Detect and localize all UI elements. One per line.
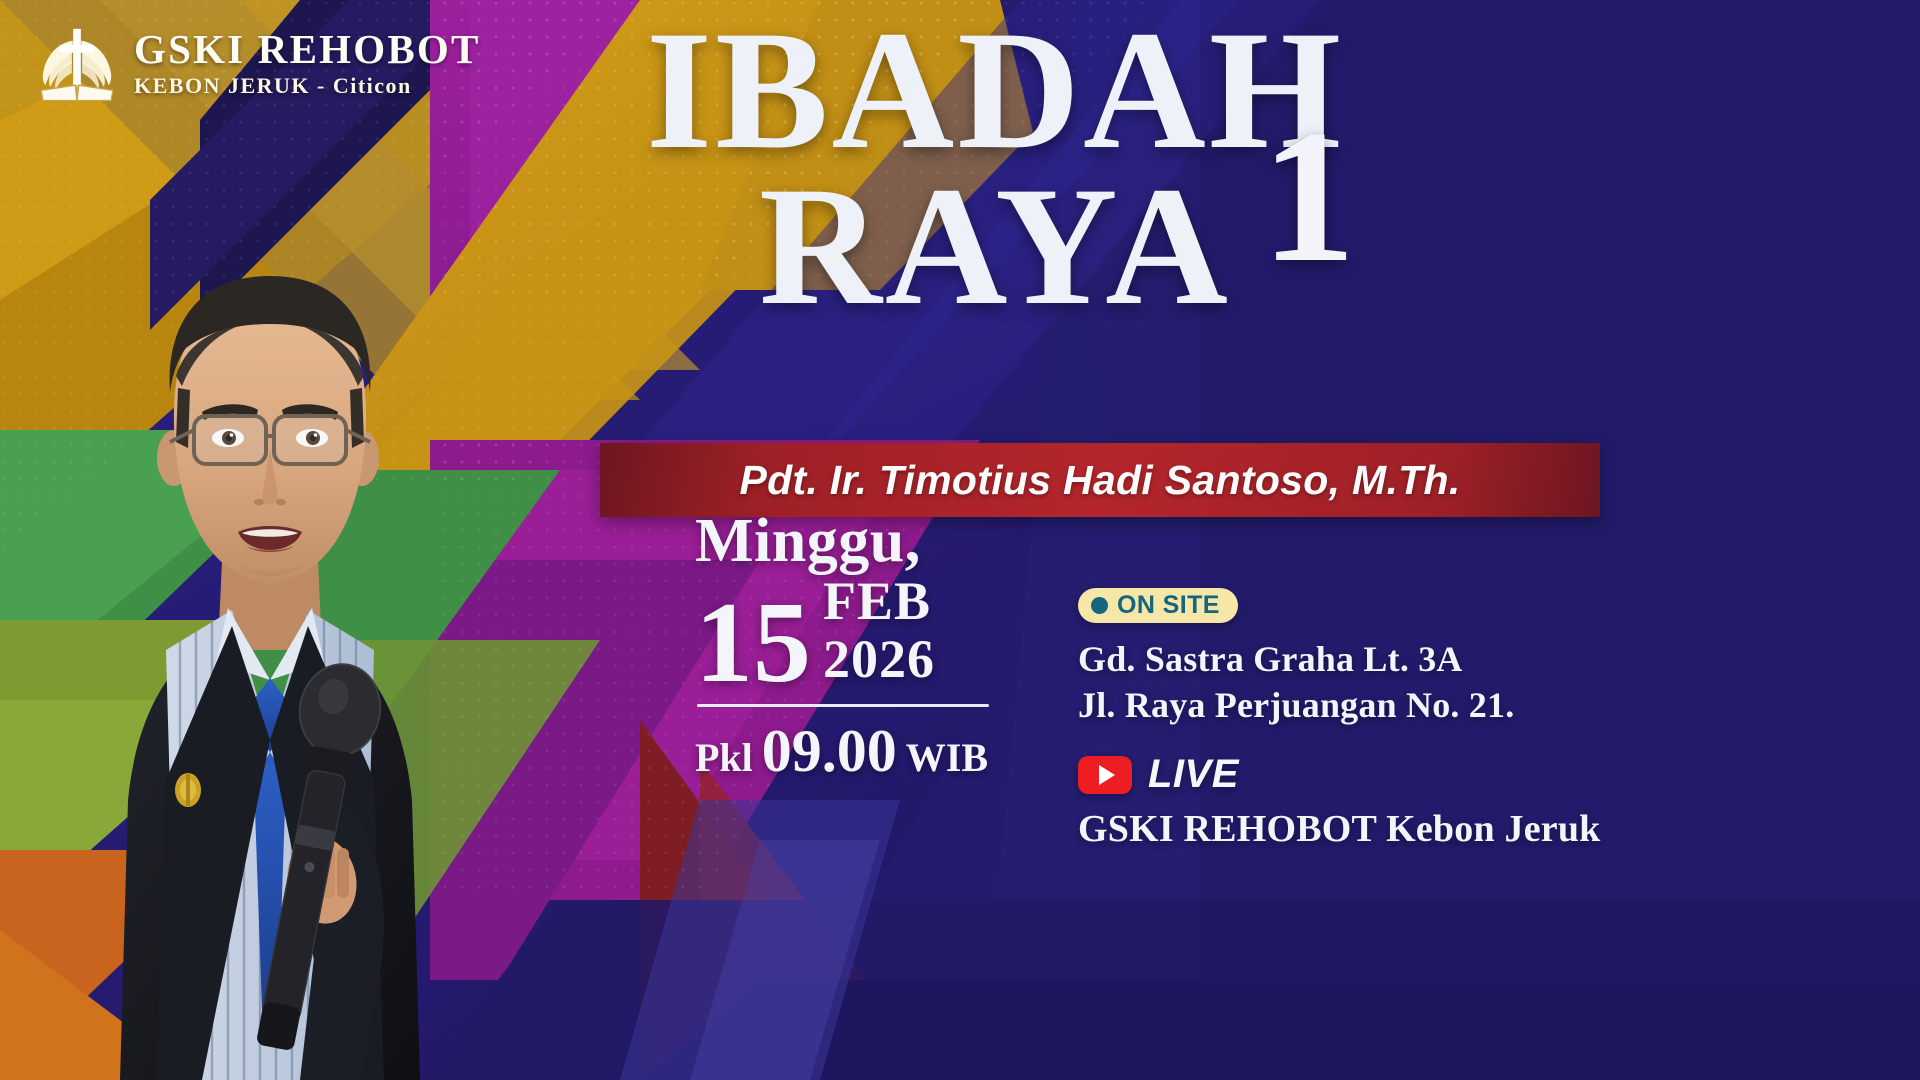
brand-text: GSKI REHOBOT KEBON JERUK - Citicon xyxy=(134,29,481,97)
time-value: 09.00 xyxy=(762,717,897,786)
schedule-year: 2026 xyxy=(823,632,935,686)
dot-icon xyxy=(1091,597,1108,614)
brand-name: GSKI REHOBOT xyxy=(134,29,481,70)
schedule-month: FEB xyxy=(823,574,935,628)
onsite-label: ON SITE xyxy=(1117,593,1220,618)
venue-block: ON SITE Gd. Sastra Graha Lt. 3A Jl. Raya… xyxy=(1078,588,1548,851)
venue-address-line-2: Jl. Raya Perjuangan No. 21. xyxy=(1078,683,1548,729)
youtube-channel-name: GSKI REHOBOT Kebon Jeruk xyxy=(1078,807,1548,851)
title-number: 1 xyxy=(1261,102,1359,292)
speaker-name: Pdt. Ir. Timotius Hadi Santoso, M.Th. xyxy=(739,457,1460,504)
schedule-time-row: Pkl 09.00 WIB xyxy=(695,717,1025,786)
venue-address-line-1: Gd. Sastra Graha Lt. 3A xyxy=(1078,637,1548,683)
live-label: LIVE xyxy=(1148,752,1239,797)
cross-dove-book-icon xyxy=(34,22,120,104)
poster-canvas: GSKI REHOBOT KEBON JERUK - Citicon xyxy=(0,0,1920,1080)
event-title: IBADAH RAYA 1 xyxy=(470,12,1520,325)
time-prefix: Pkl xyxy=(695,734,753,781)
onsite-badge: ON SITE xyxy=(1078,588,1238,623)
speaker-name-banner: Pdt. Ir. Timotius Hadi Santoso, M.Th. xyxy=(600,443,1600,517)
brand-branch: KEBON JERUK - Citicon xyxy=(134,75,481,97)
schedule-day: Minggu, xyxy=(695,510,1025,572)
schedule-date-row: 15 FEB 2026 xyxy=(695,574,1025,694)
title-line-2: RAYA 1 xyxy=(759,168,1231,324)
schedule-block: Minggu, 15 FEB 2026 Pkl 09.00 WIB xyxy=(695,510,1025,786)
brand-logo: GSKI REHOBOT KEBON JERUK - Citicon xyxy=(34,22,481,104)
play-triangle-icon xyxy=(1099,765,1115,785)
title-line-1: IBADAH xyxy=(470,12,1520,168)
time-zone: WIB xyxy=(906,734,988,781)
schedule-date: 15 xyxy=(695,592,811,694)
live-stream-row[interactable]: LIVE xyxy=(1078,752,1548,797)
title-line-2-text: RAYA xyxy=(759,152,1231,340)
youtube-icon[interactable] xyxy=(1078,756,1132,794)
schedule-month-year: FEB 2026 xyxy=(823,574,935,694)
